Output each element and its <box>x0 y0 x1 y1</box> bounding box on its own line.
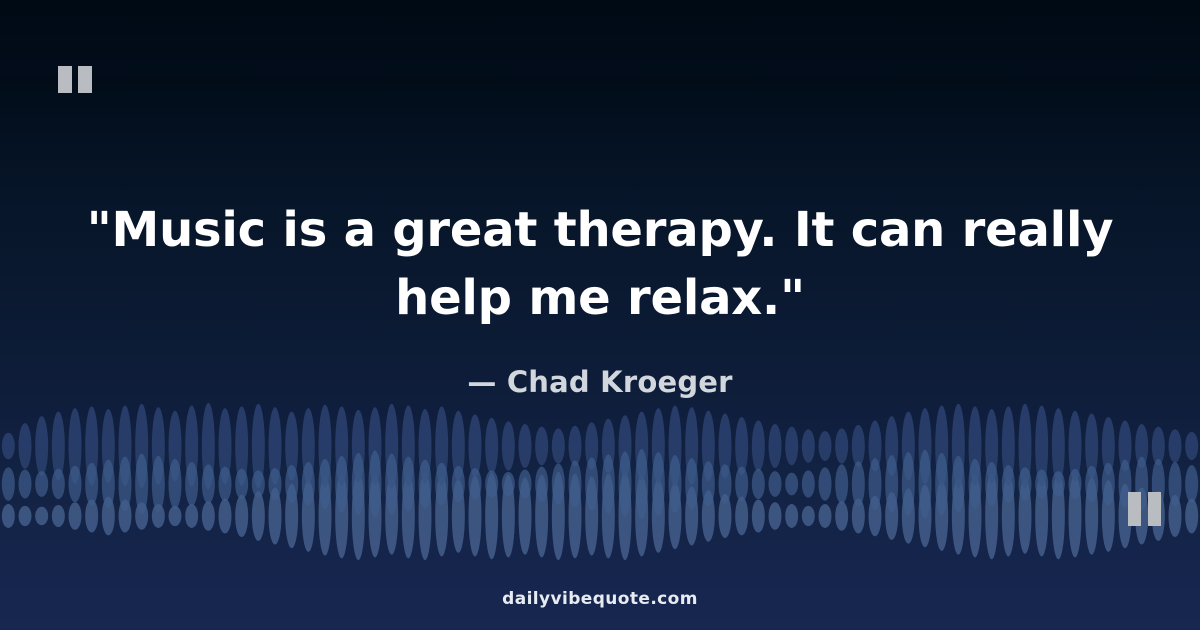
waveform-row-top <box>2 403 1198 489</box>
pause-bar-left <box>1128 492 1141 526</box>
pause-bar-right <box>1148 492 1161 526</box>
quote-text: "Music is a great therapy. It can really… <box>70 196 1130 332</box>
quote-card: "Music is a great therapy. It can really… <box>0 0 1200 630</box>
pause-bars-icon-bottom <box>1128 492 1161 526</box>
quote-author: — Chad Kroeger <box>467 365 732 399</box>
pause-bar-left <box>58 66 72 93</box>
pause-bars-icon <box>58 66 92 93</box>
pause-bar-right <box>78 66 92 93</box>
footer-website: dailyvibequote.com <box>502 589 698 609</box>
audio-waveform <box>0 398 1200 563</box>
